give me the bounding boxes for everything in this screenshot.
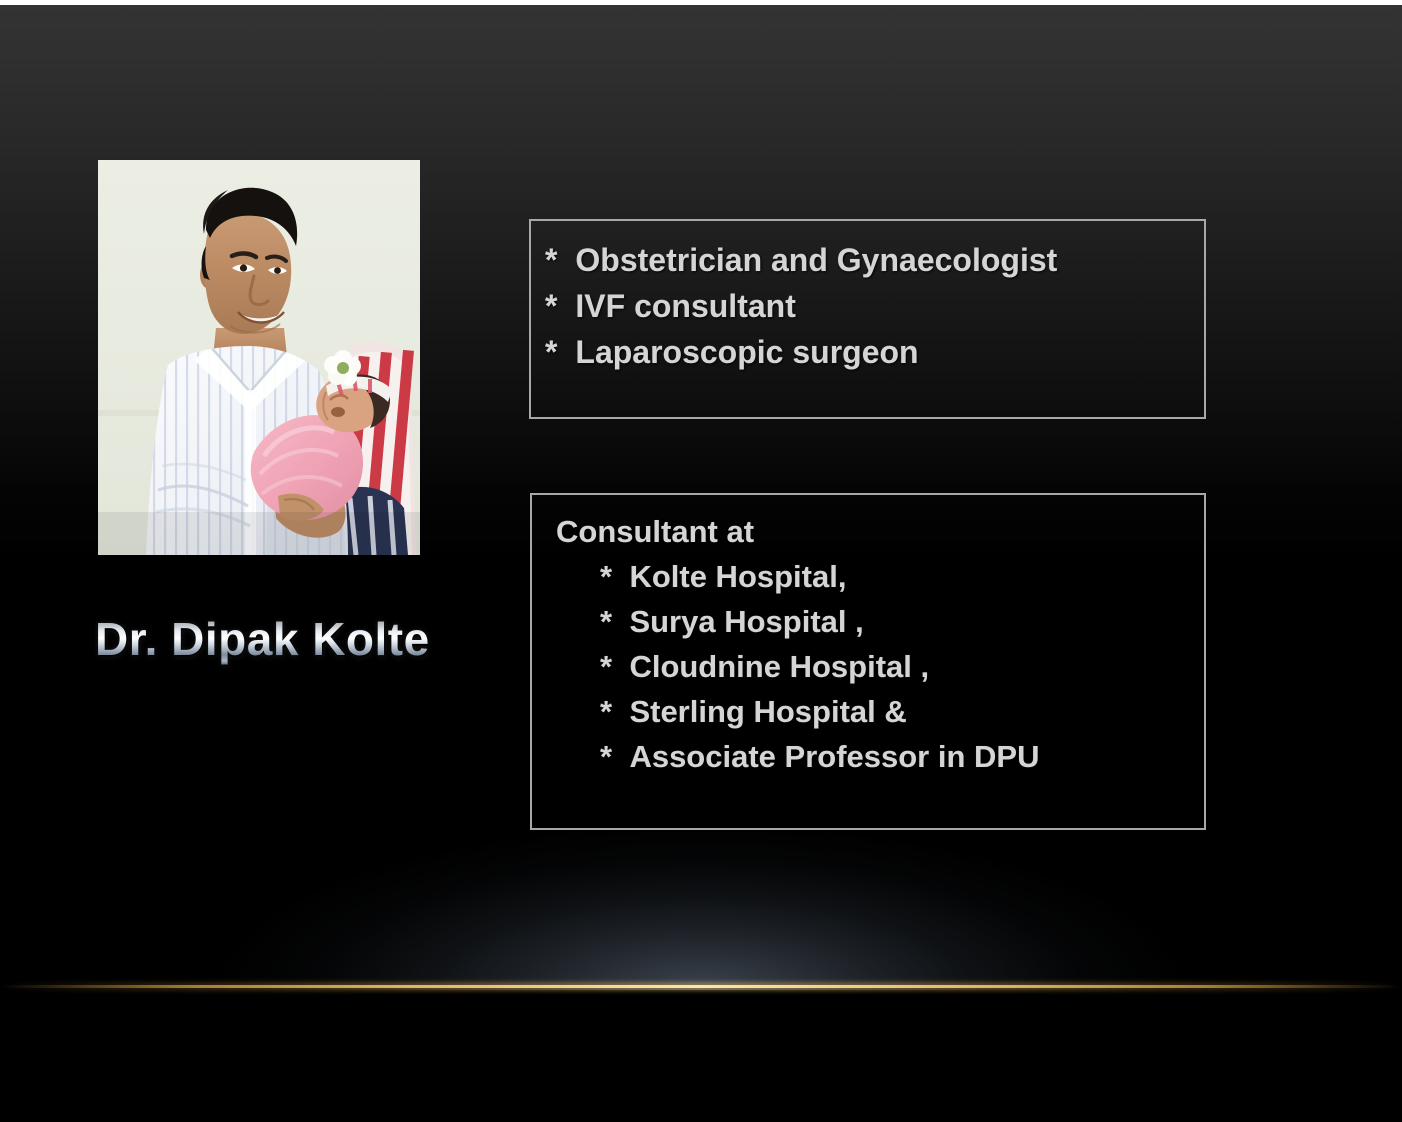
affiliation-item: *Associate Professor in DPU — [556, 734, 1186, 779]
doctor-portrait — [98, 160, 420, 555]
bullet-star-icon: * — [600, 689, 629, 734]
bullet-star-icon: * — [600, 554, 629, 599]
bullet-star-icon: * — [600, 599, 629, 644]
doctor-portrait-illustration — [98, 160, 420, 555]
affiliation-label: Sterling Hospital & — [629, 694, 906, 729]
page-title: Dr. Dipak Kolte — [95, 614, 495, 665]
bullet-star-icon: * — [600, 734, 629, 779]
credential-label: Laparoscopic surgeon — [575, 334, 918, 370]
affiliation-label: Kolte Hospital, — [629, 559, 846, 594]
credential-label: IVF consultant — [575, 288, 795, 324]
affiliation-label: Cloudnine Hospital , — [629, 649, 929, 684]
credentials-panel: *Obstetrician and Gynaecologist *IVF con… — [529, 219, 1206, 419]
affiliation-label: Surya Hospital , — [629, 604, 863, 639]
doctor-portrait-frame — [98, 160, 420, 555]
bullet-star-icon: * — [545, 329, 575, 375]
top-white-edge — [0, 0, 1402, 5]
credential-item: *IVF consultant — [545, 283, 1186, 329]
affiliations-heading: Consultant at — [556, 509, 1186, 554]
affiliation-item: *Sterling Hospital & — [556, 689, 1186, 734]
affiliation-label: Associate Professor in DPU — [629, 739, 1039, 774]
credential-item: *Obstetrician and Gynaecologist — [545, 237, 1186, 283]
bullet-star-icon: * — [545, 237, 575, 283]
credential-item: *Laparoscopic surgeon — [545, 329, 1186, 375]
slide-root: Dr. Dipak Kolte *Obstetrician and Gynaec… — [0, 0, 1402, 1122]
affiliation-item: *Kolte Hospital, — [556, 554, 1186, 599]
credential-label: Obstetrician and Gynaecologist — [575, 242, 1057, 278]
affiliation-item: *Cloudnine Hospital , — [556, 644, 1186, 689]
affiliation-item: *Surya Hospital , — [556, 599, 1186, 644]
affiliations-panel: Consultant at *Kolte Hospital, *Surya Ho… — [530, 493, 1206, 830]
bullet-star-icon: * — [600, 644, 629, 689]
bullet-star-icon: * — [545, 283, 575, 329]
